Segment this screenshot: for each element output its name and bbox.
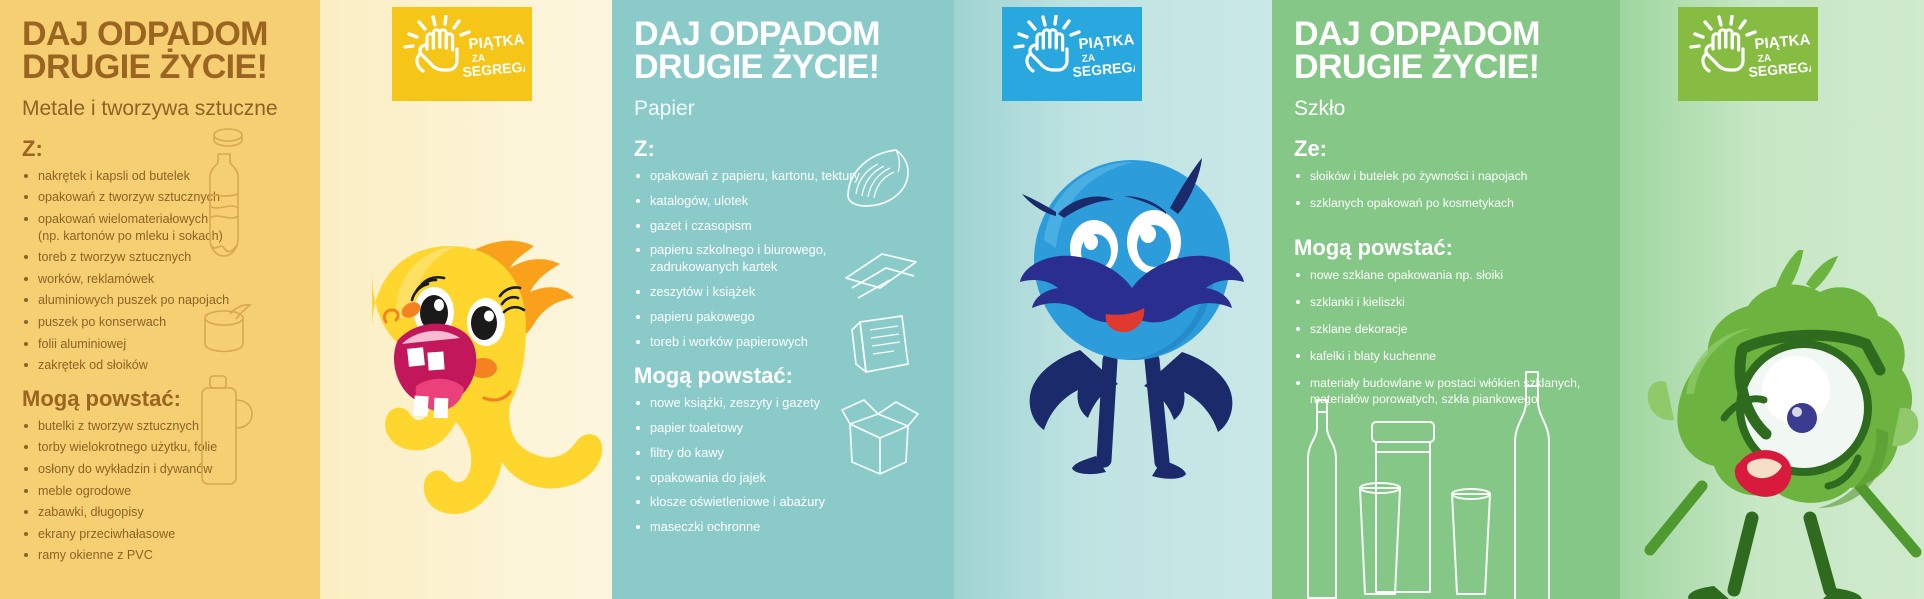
drinking-glass-icon (1354, 482, 1406, 599)
panel-2-text-column: DAJ ODPADOM DRUGIE ŻYCIE! Papier Z: opak… (612, 0, 954, 599)
list-item: torby wielokrotnego użytku, folie (22, 439, 298, 456)
blue-mustache-mascot (984, 120, 1272, 525)
list-item: opakowań z papieru, kartonu, tektury (634, 168, 932, 185)
svg-text:PIĄTKA: PIĄTKA (1754, 31, 1811, 53)
campaign-logo-badge: PIĄTKA ZA SEGREGACJĘ (392, 7, 532, 101)
list-item: zabawki, długopisy (22, 504, 298, 521)
panel-2-subtitle: Papier (634, 97, 932, 120)
panel-1-art-area: PIĄTKA ZA SEGREGACJĘ (320, 0, 612, 599)
list-item: folii aluminiowej (22, 336, 298, 353)
panel-1-subtitle: Metale i tworzywa sztuczne (22, 97, 298, 120)
svg-text:PIĄTKA: PIĄTKA (468, 31, 525, 53)
page-title: DAJ ODPADOM DRUGIE ŻYCIE! (634, 18, 932, 85)
panel-3-from-list: słoików i butelek po żywności i napojach… (1294, 168, 1598, 211)
list-item: kafelki i blaty kuchenne (1294, 348, 1598, 364)
page-title: DAJ ODPADOM DRUGIE ŻYCIE! (1294, 18, 1598, 85)
jar-icon (1364, 418, 1442, 599)
list-item: filtry do kawy (634, 445, 932, 462)
list-item: worków, reklamówek (22, 271, 298, 288)
list-item: zeszytów i książek (634, 284, 932, 301)
list-item: aluminiowych puszek po napojach (22, 292, 298, 309)
list-item: ekrany przeciwhałasowe (22, 526, 298, 543)
panel-1-make-list: butelki z tworzyw sztucznych torby wielo… (22, 418, 298, 564)
list-item: zakrętek od słoików (22, 357, 298, 374)
list-item: materiały budowlane w postaci włókien sz… (1294, 375, 1598, 407)
list-item: nakrętek i kapsli od butelek (22, 168, 298, 185)
panel-papier: DAJ ODPADOM DRUGIE ŻYCIE! Papier Z: opak… (612, 0, 1272, 599)
list-item: papieru pakowego (634, 309, 932, 326)
campaign-logo-badge: PIĄTKA ZA SEGREGACJĘ (1002, 7, 1142, 101)
list-item: toreb i worków papierowych (634, 334, 932, 351)
list-item: gazet i czasopism (634, 218, 932, 235)
drinking-glass-icon (1446, 488, 1496, 599)
panel-1-from-list: nakrętek i kapsli od butelek opakowań z … (22, 168, 298, 374)
list-item: meble ogrodowe (22, 483, 298, 500)
panel-2-art-area: PIĄTKA ZA SEGREGACJĘ (954, 0, 1272, 599)
panel-3-make-list: nowe szklane opakowania np. słoiki szkla… (1294, 267, 1598, 408)
panel-3-art-area: PIĄTKA ZA SEGREGACJĘ (1620, 0, 1924, 599)
page-title: DAJ ODPADOM DRUGIE ŻYCIE! (22, 18, 298, 85)
list-item: szklanych opakowań po kosmetykach (1294, 195, 1598, 211)
panel-szklo: DAJ ODPADOM DRUGIE ŻYCIE! Szkło Ze: słoi… (1272, 0, 1924, 599)
list-item: opakowania do jajek (634, 470, 932, 487)
panel-metale-tworzywa: DAJ ODPADOM DRUGIE ŻYCIE! Metale i tworz… (0, 0, 612, 599)
list-item: papieru szkolnego i biurowego, zadrukowa… (634, 242, 932, 276)
panel-2-from-list: opakowań z papieru, kartonu, tektury kat… (634, 168, 932, 351)
panel-3-make-heading: Mogą powstać: (1294, 237, 1598, 259)
list-item: maseczki ochronne (634, 519, 932, 536)
list-item: puszek po konserwach (22, 314, 298, 331)
list-item: osłony do wykładzin i dywanów (22, 461, 298, 478)
recycling-poster-board: DAJ ODPADOM DRUGIE ŻYCIE! Metale i tworz… (0, 0, 1924, 599)
list-item: butelki z tworzyw sztucznych (22, 418, 298, 435)
list-item: nowe książki, zeszyty i gazety (634, 395, 932, 412)
yellow-blob-mascot (320, 200, 612, 599)
list-item: słoików i butelek po żywności i napojach (1294, 168, 1598, 184)
panel-2-from-heading: Z: (634, 138, 932, 160)
list-item: opakowań wielomateriałowych (np. kartonó… (22, 211, 298, 244)
panel-3-text-column: DAJ ODPADOM DRUGIE ŻYCIE! Szkło Ze: słoi… (1272, 0, 1620, 599)
panel-1-make-heading: Mogą powstać: (22, 388, 298, 410)
svg-text:PIĄTKA: PIĄTKA (1078, 31, 1135, 53)
list-item: opakowań z tworzyw sztucznych (22, 189, 298, 206)
glass-bottle-icon (1300, 396, 1344, 599)
campaign-logo-badge: PIĄTKA ZA SEGREGACJĘ (1678, 7, 1818, 101)
list-item: szklane dekoracje (1294, 321, 1598, 337)
list-item: toreb z tworzyw sztucznych (22, 249, 298, 266)
panel-2-make-heading: Mogą powstać: (634, 365, 932, 387)
panel-1-from-heading: Z: (22, 138, 298, 160)
list-item: szklanki i kieliszki (1294, 294, 1598, 310)
list-item: klosze oświetleniowe i abażury (634, 494, 932, 511)
list-item: katalogów, ulotek (634, 193, 932, 210)
panel-1-text-column: DAJ ODPADOM DRUGIE ŻYCIE! Metale i tworz… (0, 0, 320, 599)
list-item: nowe szklane opakowania np. słoiki (1294, 267, 1598, 283)
panel-3-from-heading: Ze: (1294, 138, 1598, 160)
green-monocle-mascot (1644, 250, 1924, 599)
list-item: papier toaletowy (634, 420, 932, 437)
panel-3-subtitle: Szkło (1294, 97, 1598, 120)
list-item: ramy okienne z PVC (22, 547, 298, 564)
panel-2-make-list: nowe książki, zeszyty i gazety papier to… (634, 395, 932, 536)
